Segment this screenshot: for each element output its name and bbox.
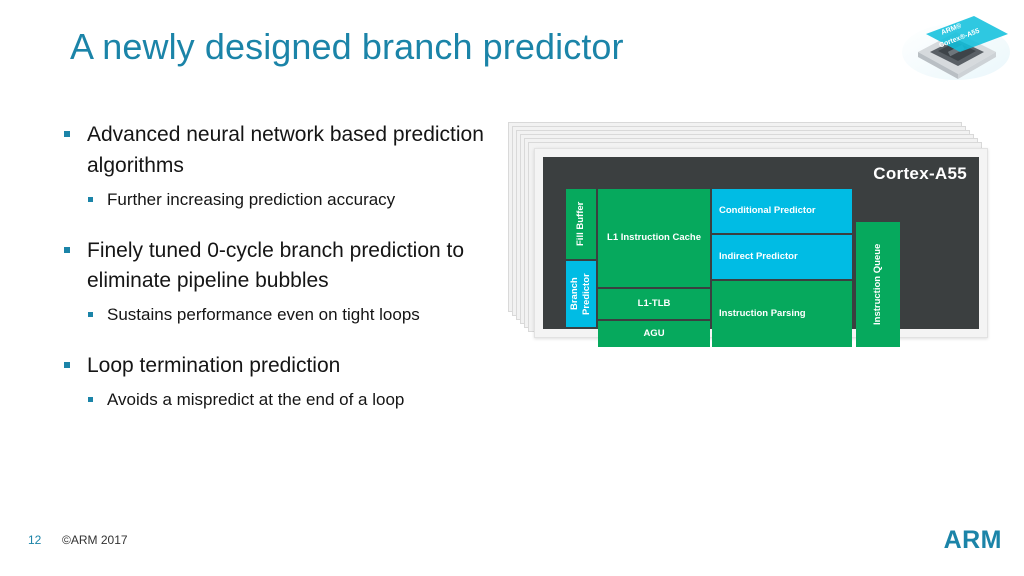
bullet-item: Advanced neural network based prediction… [64,120,514,182]
bullet-group-2: Finely tuned 0-cycle branch prediction t… [64,236,514,328]
bullet-text: Loop termination prediction [87,351,340,382]
bullet-marker-icon [64,247,70,253]
page-number: 12 [28,533,41,547]
bullet-item: Loop termination prediction [64,351,514,382]
bullet-group-3: Loop termination prediction Avoids a mis… [64,351,514,412]
chip-inner-area: Cortex-A55 Fill Buffer Branch Predictor … [543,157,979,329]
bullet-marker-icon [64,362,70,368]
sub-bullet-item: Further increasing prediction accuracy [88,188,514,212]
sub-bullet-item: Avoids a mispredict at the end of a loop [88,388,514,412]
block-l1-instruction-cache: L1 Instruction Cache [598,189,710,287]
block-indirect-predictor: Indirect Predictor [712,235,852,279]
bullet-text: Advanced neural network based prediction… [87,120,514,182]
cortex-a55-block-diagram: Cortex-A55 Fill Buffer Branch Predictor … [508,122,988,336]
sub-bullet-text: Further increasing prediction accuracy [107,188,395,212]
block-instruction-parsing: Instruction Parsing [712,281,852,347]
copyright-text: ©ARM 2017 [62,533,128,547]
slide: A newly designed branch predictor ARM® C… [0,0,1024,576]
sub-bullet-item: Sustains performance even on tight loops [88,303,514,327]
bullet-item: Finely tuned 0-cycle branch prediction t… [64,236,514,298]
block-instruction-queue: Instruction Queue [856,222,900,347]
sub-bullet-text: Avoids a mispredict at the end of a loop [107,388,404,412]
bullet-list: Advanced neural network based prediction… [64,120,514,412]
sub-bullet-text: Sustains performance even on tight loops [107,303,420,327]
arm-logo: ARM [944,526,1002,555]
cortex-a55-label: Cortex-A55 [873,164,967,184]
sub-bullet-marker-icon [88,312,93,317]
sub-bullet-marker-icon [88,197,93,202]
bullet-marker-icon [64,131,70,137]
block-branch-predictor: Branch Predictor [566,261,596,327]
arm-cortex-a55-chip-graphic: ARM® Cortex®-A55 [896,4,1016,84]
bullet-group-1: Advanced neural network based prediction… [64,120,514,212]
block-fill-buffer: Fill Buffer [566,189,596,259]
block-agu: AGU [598,321,710,347]
page-title: A newly designed branch predictor [70,26,624,68]
block-conditional-predictor: Conditional Predictor [712,189,852,233]
bullet-text: Finely tuned 0-cycle branch prediction t… [87,236,514,298]
block-l1-tlb: L1-TLB [598,289,710,319]
sub-bullet-marker-icon [88,397,93,402]
cortex-a55-chip-body: Cortex-A55 Fill Buffer Branch Predictor … [534,148,988,338]
